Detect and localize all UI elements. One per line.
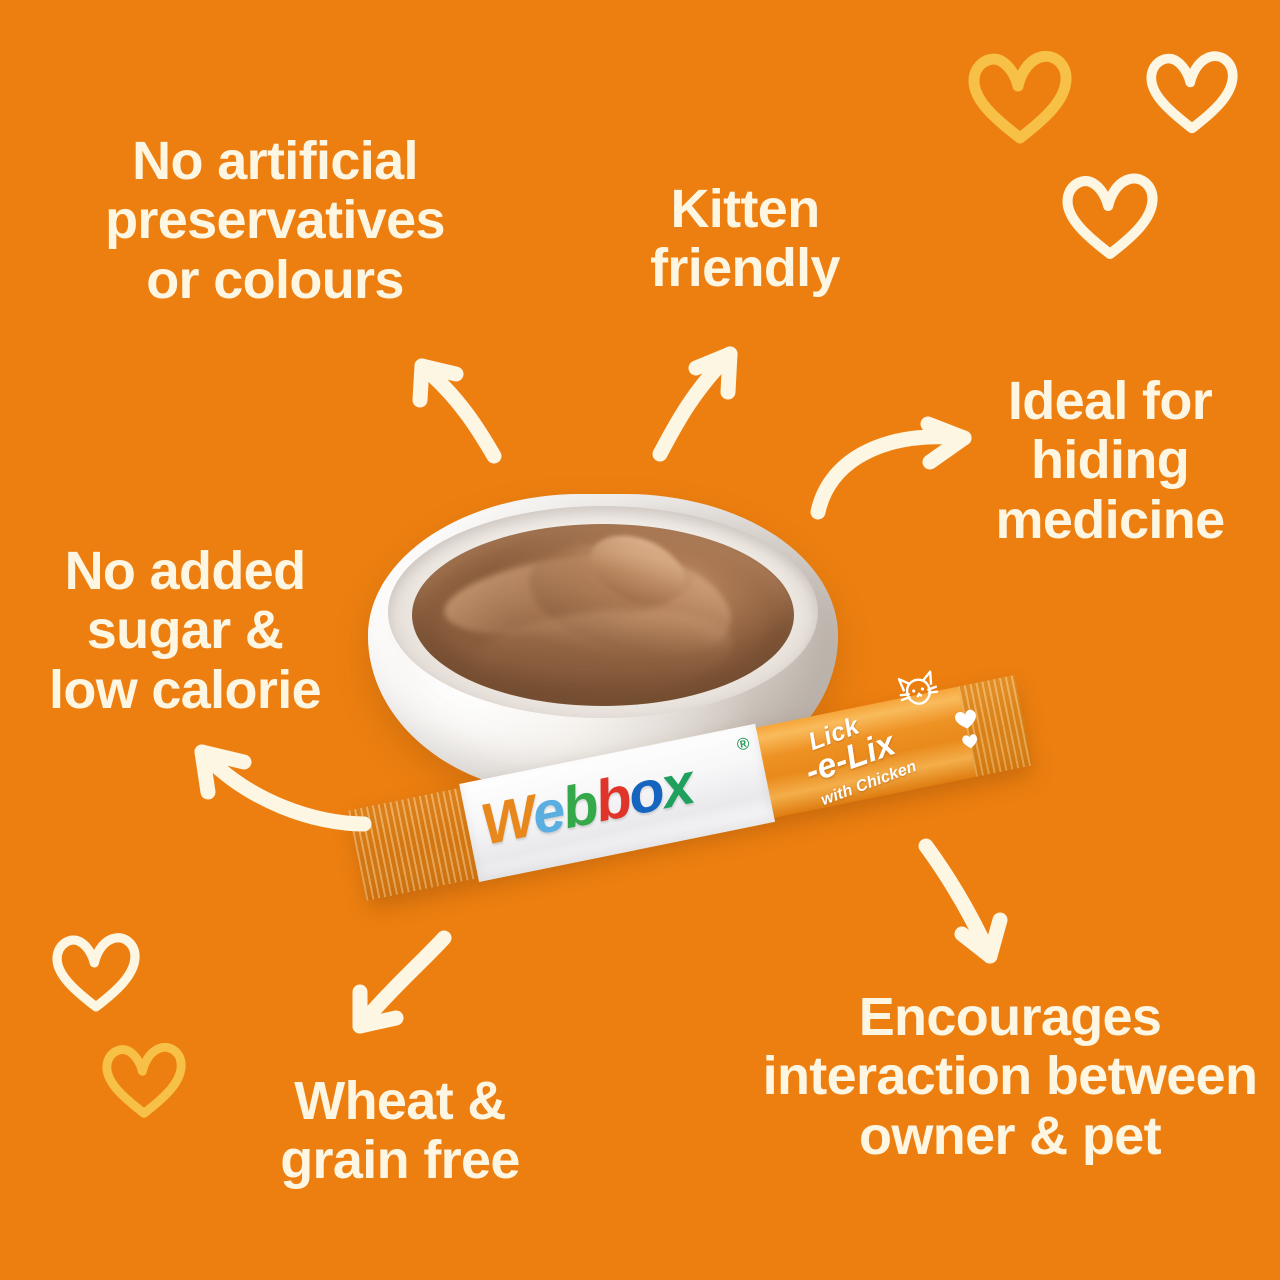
benefit-label-hiding-medicine: Ideal for hiding medicine bbox=[950, 372, 1270, 550]
heart-icon bbox=[102, 1042, 186, 1120]
benefit-label-wheat-grain-free: Wheat & grain free bbox=[240, 1072, 560, 1191]
cat-face-icon bbox=[892, 666, 944, 716]
infographic-canvas: Webbox ® Lick -e-Lix with Chicken bbox=[0, 0, 1280, 1280]
benefit-label-kitten-friendly: Kitten friendly bbox=[600, 180, 890, 299]
benefit-label-no-added-sugar: No added sugar & low calorie bbox=[10, 542, 360, 720]
benefit-label-owner-pet-interaction: Encourages interaction between owner & p… bbox=[750, 988, 1270, 1166]
curved-arrow-up-right-icon bbox=[638, 342, 760, 464]
lick-e-lix-brand-lockup: Lick -e-Lix with Chicken bbox=[776, 664, 988, 823]
heart-icon bbox=[968, 50, 1072, 146]
benefit-label-no-artificial: No artificial preservatives or colours bbox=[60, 132, 490, 310]
heart-icon bbox=[1062, 172, 1158, 262]
curved-arrow-up-left-icon bbox=[398, 352, 528, 464]
curved-arrow-down-left-icon bbox=[328, 908, 468, 1040]
heart-icon bbox=[52, 932, 140, 1014]
curved-arrow-down-right-icon bbox=[908, 828, 1058, 970]
curved-arrow-left-icon bbox=[186, 736, 376, 840]
heart-icon bbox=[1146, 50, 1238, 136]
